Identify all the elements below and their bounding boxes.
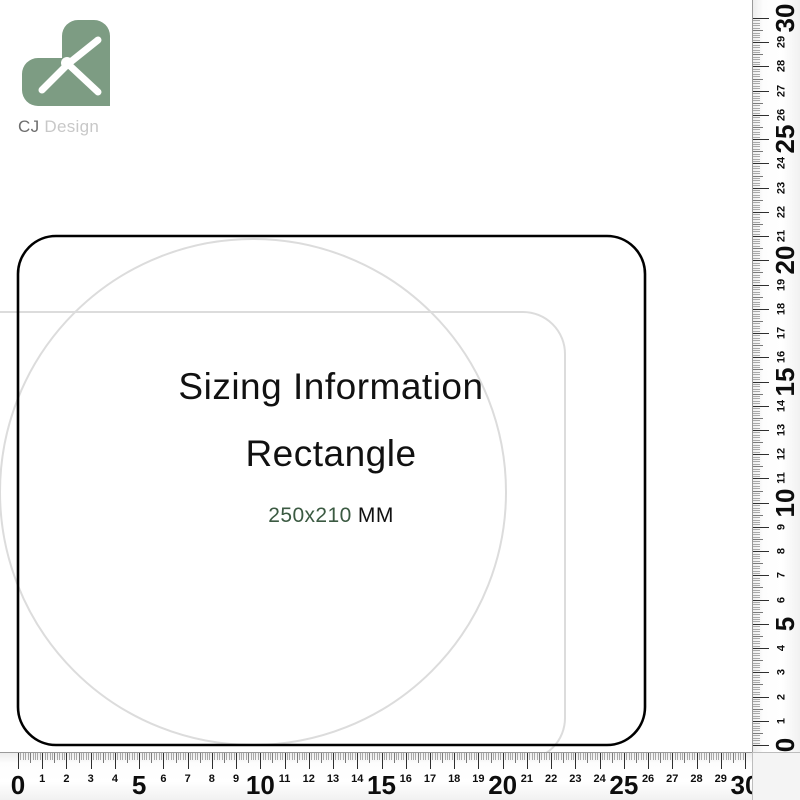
ruler-tick [753, 403, 760, 404]
ruler-tick [753, 33, 760, 34]
ruler-tick [275, 753, 276, 760]
ruler-tick [753, 512, 760, 513]
ruler-tick [753, 40, 760, 41]
ruler-tick [753, 568, 760, 569]
ruler-tick [134, 753, 135, 760]
ruler-tick [753, 294, 760, 295]
ruler-tick [23, 753, 24, 760]
ruler-tick [255, 753, 256, 760]
ruler-tick [753, 369, 763, 370]
ruler-tick [753, 287, 760, 288]
ruler-tick [753, 556, 760, 557]
ruler-tick [418, 753, 419, 763]
ruler-tick [753, 100, 760, 101]
ruler-tick [753, 461, 760, 462]
ruler-tick [753, 88, 760, 89]
ruler-tick [753, 348, 760, 349]
ruler-tick [345, 753, 346, 763]
ruler-tick [440, 753, 441, 760]
ruler-tick [753, 326, 760, 327]
ruler-tick [753, 331, 760, 332]
ruler-tick [675, 753, 676, 760]
ruler-tick [753, 440, 760, 441]
ruler-label: 24 [777, 157, 788, 169]
ruler-label: 14 [351, 774, 363, 785]
ruler-tick [753, 617, 760, 618]
ruler-tick [231, 753, 232, 760]
ruler-tick [713, 753, 714, 760]
ruler-tick [113, 753, 114, 760]
ruler-tick [753, 76, 760, 77]
ruler-tick [753, 486, 760, 487]
ruler-tick [753, 476, 760, 477]
ruler-tick [753, 91, 769, 92]
ruler-tick [753, 350, 760, 351]
ruler-tick [753, 79, 763, 80]
ruler-tick [753, 389, 760, 390]
ruler-tick [753, 711, 760, 712]
ruler-tick [753, 280, 760, 281]
ruler-tick [753, 127, 763, 128]
ruler-tick [682, 753, 683, 760]
ruler-label: 8 [777, 548, 788, 554]
ruler-tick [272, 753, 273, 763]
ruler-tick [753, 335, 760, 336]
ruler-tick [753, 432, 760, 433]
ruler-tick [466, 753, 467, 763]
ruler-tick [386, 753, 387, 760]
ruler-tick [753, 173, 760, 174]
ruler-tick [753, 413, 760, 414]
ruler-tick [452, 753, 453, 760]
ruler-tick [728, 753, 729, 760]
ruler-label: 1 [777, 718, 788, 724]
ruler-tick [753, 45, 760, 46]
ruler-tick [753, 505, 760, 506]
ruler-tick [753, 316, 760, 317]
ruler-tick [508, 753, 509, 760]
ruler-tick [753, 396, 760, 397]
ruler-tick [306, 753, 307, 760]
ruler-tick [486, 753, 487, 760]
ruler-tick [753, 539, 763, 540]
ruler-label: 4 [112, 774, 118, 785]
ruler-tick [25, 753, 26, 760]
ruler-tick [195, 753, 196, 760]
ruler-tick [753, 597, 760, 598]
ruler-tick [753, 607, 760, 608]
ruler-tick [753, 706, 760, 707]
ruler-tick [753, 260, 769, 261]
ruler-tick [154, 753, 155, 760]
ruler-label: 10 [772, 488, 798, 517]
ruler-label: 19 [777, 278, 788, 290]
ruler-tick [529, 753, 530, 760]
ruler-tick [753, 306, 760, 307]
ruler-tick [753, 551, 769, 552]
ruler-tick [626, 753, 627, 760]
ruler-tick [96, 753, 97, 760]
ruler-tick [753, 718, 760, 719]
ruler-tick [753, 30, 763, 31]
ruler-tick [597, 753, 598, 760]
ruler-tick [20, 753, 21, 760]
ruler-tick [753, 113, 760, 114]
ruler-tick [672, 753, 673, 769]
ruler-tick [447, 753, 448, 760]
ruler-tick [125, 753, 126, 760]
ruler-tick [498, 753, 499, 760]
page-title: Sizing Information [18, 368, 644, 405]
ruler-tick [253, 753, 254, 760]
ruler-tick [241, 753, 242, 760]
ruler-tick [753, 229, 760, 230]
ruler-tick [753, 255, 760, 256]
ruler-tick [432, 753, 433, 760]
ruler-tick [568, 753, 569, 760]
ruler-tick [753, 192, 760, 193]
ruler-tick [753, 142, 760, 143]
ruler-tick [42, 753, 43, 769]
ruler-tick [396, 753, 397, 760]
ruler-tick [491, 753, 492, 763]
ruler-tick [163, 753, 164, 769]
ruler-tick [79, 753, 80, 763]
ruler-label: 5 [772, 617, 798, 631]
ruler-tick [753, 534, 760, 535]
ruler-tick [403, 753, 404, 760]
ruler-tick [595, 753, 596, 760]
ruler-tick [723, 753, 724, 760]
ruler-tick [753, 311, 760, 312]
ruler-tick [355, 753, 356, 760]
ruler-tick [226, 753, 227, 760]
ruler-tick [323, 753, 324, 760]
ruler-tick [100, 753, 101, 760]
ruler-tick [694, 753, 695, 760]
ruler-tick [689, 753, 690, 760]
ruler-tick [753, 401, 760, 402]
ruler-tick [753, 394, 763, 395]
ruler-tick [209, 753, 210, 760]
ruler-label: 15 [772, 367, 798, 396]
ruler-tick [156, 753, 157, 760]
ruler-tick [558, 753, 559, 760]
ruler-tick [469, 753, 470, 760]
ruler-tick [423, 753, 424, 760]
ruler-tick [607, 753, 608, 760]
ruler-label: 3 [777, 669, 788, 675]
ruler-tick [753, 428, 760, 429]
ruler-tick [753, 180, 760, 181]
ruler-tick [699, 753, 700, 760]
ruler-tick [522, 753, 523, 760]
ruler-tick [753, 188, 769, 189]
ruler-tick [653, 753, 654, 760]
ruler-label: 23 [777, 182, 788, 194]
ruler-tick [753, 110, 760, 111]
ruler-tick [753, 546, 760, 547]
ruler-tick [753, 449, 760, 450]
ruler-label: 26 [642, 774, 654, 785]
ruler-tick [146, 753, 147, 760]
ruler-tick [753, 200, 763, 201]
ruler-tick [753, 454, 769, 455]
ruler-tick [197, 753, 198, 760]
ruler-tick [753, 37, 760, 38]
ruler-tick [517, 753, 518, 760]
ruler-label: 19 [472, 774, 484, 785]
ruler-label: 3 [88, 774, 94, 785]
ruler-tick [619, 753, 620, 760]
ruler-tick [753, 735, 760, 736]
ruler-tick [753, 583, 760, 584]
ruler-tick [753, 554, 760, 555]
ruler-tick [753, 190, 760, 191]
vertical-ruler: 0123456789101112131415161718192021222324… [752, 0, 800, 800]
ruler-tick [500, 753, 501, 760]
ruler-tick [229, 753, 230, 760]
ruler-tick [110, 753, 111, 760]
ruler-tick [505, 753, 506, 760]
ruler-label: 15 [367, 772, 396, 798]
ruler-tick [735, 753, 736, 760]
ruler-tick [382, 753, 383, 769]
ruler-tick [753, 289, 760, 290]
ruler-tick [246, 753, 247, 760]
ruler-tick [474, 753, 475, 760]
ruler-tick [753, 675, 760, 676]
ruler-tick [753, 517, 760, 518]
ruler-tick [753, 728, 760, 729]
ruler-tick [753, 258, 760, 259]
ruler-tick [168, 753, 169, 760]
ruler-tick [311, 753, 312, 760]
ruler-label: 10 [246, 772, 275, 798]
ruler-tick [454, 753, 455, 769]
ruler-tick [30, 753, 31, 763]
ruler-tick [753, 423, 760, 424]
ruler-tick [753, 488, 760, 489]
ruler-tick [753, 437, 760, 438]
ruler-label: 20 [772, 246, 798, 275]
ruler-tick [753, 52, 760, 53]
ruler-tick [129, 753, 130, 760]
ruler-tick [738, 753, 739, 760]
ruler-tick [753, 125, 760, 126]
ruler-tick [753, 573, 760, 574]
ruler-tick [105, 753, 106, 760]
ruler-tick [753, 93, 760, 94]
ruler-tick [753, 386, 760, 387]
ruler-tick [753, 146, 760, 147]
ruler-tick [733, 753, 734, 763]
ruler-tick [753, 23, 760, 24]
ruler-tick [753, 382, 769, 383]
ruler-tick [457, 753, 458, 760]
ruler-tick [753, 634, 760, 635]
ruler-tick [753, 643, 760, 644]
ruler-tick [88, 753, 89, 760]
ruler-tick [753, 590, 760, 591]
ruler-label: 27 [777, 85, 788, 97]
ruler-tick [753, 638, 760, 639]
ruler-tick [561, 753, 562, 760]
ruler-tick [40, 753, 41, 760]
ruler-tick [641, 753, 642, 760]
ruler-tick [753, 272, 763, 273]
ruler-tick [604, 753, 605, 760]
ruler-tick [753, 713, 760, 714]
ruler-label: 9 [777, 524, 788, 530]
ruler-tick [464, 753, 465, 760]
ruler-tick [35, 753, 36, 760]
ruler-tick [753, 580, 760, 581]
ruler-tick [207, 753, 208, 760]
ruler-label: 27 [666, 774, 678, 785]
ruler-tick [379, 753, 380, 760]
ruler-tick [753, 667, 760, 668]
ruler-tick [753, 464, 760, 465]
ruler-label: 11 [777, 473, 788, 485]
ruler-tick [753, 457, 760, 458]
ruler-tick [289, 753, 290, 760]
ruler-tick [520, 753, 521, 760]
ruler-tick [753, 500, 760, 501]
ruler-tick [753, 459, 760, 460]
ruler-tick [137, 753, 138, 760]
ruler-tick [753, 139, 769, 140]
ruler-tick [753, 665, 760, 666]
ruler-tick [66, 753, 67, 769]
ruler-label: 2 [63, 774, 69, 785]
ruler-tick [753, 585, 760, 586]
ruler-tick [711, 753, 712, 760]
ruler-tick [178, 753, 179, 760]
ruler-tick [753, 660, 763, 661]
ruler-tick [753, 411, 760, 412]
ruler-tick [718, 753, 719, 760]
ruler-tick [406, 753, 407, 769]
ruler-tick [377, 753, 378, 760]
ruler-tick [321, 753, 322, 763]
ruler-tick [389, 753, 390, 760]
ruler-tick [753, 493, 760, 494]
ruler-tick [753, 71, 760, 72]
ruler-corner [752, 752, 800, 800]
ruler-tick [753, 408, 760, 409]
ruler-tick [753, 166, 760, 167]
ruler-tick [753, 352, 760, 353]
ruler-tick [753, 738, 760, 739]
ruler-tick [753, 83, 760, 84]
ruler-label: 24 [593, 774, 605, 785]
ruler-tick [753, 96, 760, 97]
ruler-label: 5 [132, 772, 146, 798]
ruler-tick [297, 753, 298, 763]
ruler-tick [753, 527, 769, 528]
ruler-label: 7 [185, 774, 191, 785]
ruler-tick [420, 753, 421, 760]
ruler-tick [701, 753, 702, 760]
ruler-tick [74, 753, 75, 760]
ruler-tick [753, 54, 763, 55]
ruler-tick [488, 753, 489, 760]
ruler-tick [753, 515, 763, 516]
ruler-tick [753, 641, 760, 642]
ruler-tick [171, 753, 172, 760]
ruler-tick [753, 57, 760, 58]
ruler-tick [753, 69, 760, 70]
ruler-tick [76, 753, 77, 760]
ruler-tick [692, 753, 693, 760]
ruler-tick [753, 653, 760, 654]
ruler-tick [132, 753, 133, 760]
ruler-tick [428, 753, 429, 760]
ruler-tick [753, 377, 760, 378]
ruler-tick [47, 753, 48, 760]
ruler-tick [753, 541, 760, 542]
ruler-tick [369, 753, 370, 763]
ruler-tick [753, 612, 763, 613]
ruler-label: 17 [777, 327, 788, 339]
ruler-tick [753, 648, 769, 649]
ruler-tick [753, 202, 760, 203]
ruler-tick [753, 701, 760, 702]
ruler-tick [753, 105, 760, 106]
ruler-tick [753, 406, 769, 407]
ruler-tick [753, 694, 760, 695]
ruler-tick [753, 520, 760, 521]
ruler-tick [372, 753, 373, 760]
ruler-tick [753, 510, 760, 511]
ruler-tick [180, 753, 181, 760]
ruler-tick [57, 753, 58, 760]
ruler-tick [753, 234, 760, 235]
ruler-tick [120, 753, 121, 760]
ruler-tick [481, 753, 482, 760]
ruler-tick [575, 753, 576, 769]
ruler-tick [753, 629, 760, 630]
ruler-tick [753, 132, 760, 133]
ruler-tick [69, 753, 70, 760]
ruler-tick [753, 571, 760, 572]
ruler-tick [745, 753, 746, 769]
ruler-tick [740, 753, 741, 760]
ruler-tick [753, 529, 760, 530]
ruler-tick [753, 587, 763, 588]
ruler-tick [753, 602, 760, 603]
ruler-tick [753, 314, 760, 315]
ruler-tick [753, 367, 760, 368]
ruler-label: 22 [777, 206, 788, 218]
ruler-tick [122, 753, 123, 760]
ruler-tick [534, 753, 535, 760]
ruler-tick [753, 733, 763, 734]
ruler-tick [265, 753, 266, 760]
ruler-tick [554, 753, 555, 760]
ruler-tick [753, 549, 760, 550]
ruler-tick [753, 689, 760, 690]
ruler-tick [753, 59, 760, 60]
ruler-tick [753, 355, 760, 356]
ruler-tick [753, 282, 760, 283]
ruler-tick [384, 753, 385, 760]
ruler-tick [753, 452, 760, 453]
ruler-tick [753, 129, 760, 130]
ruler-tick [176, 753, 177, 763]
ruler-tick [139, 753, 140, 769]
